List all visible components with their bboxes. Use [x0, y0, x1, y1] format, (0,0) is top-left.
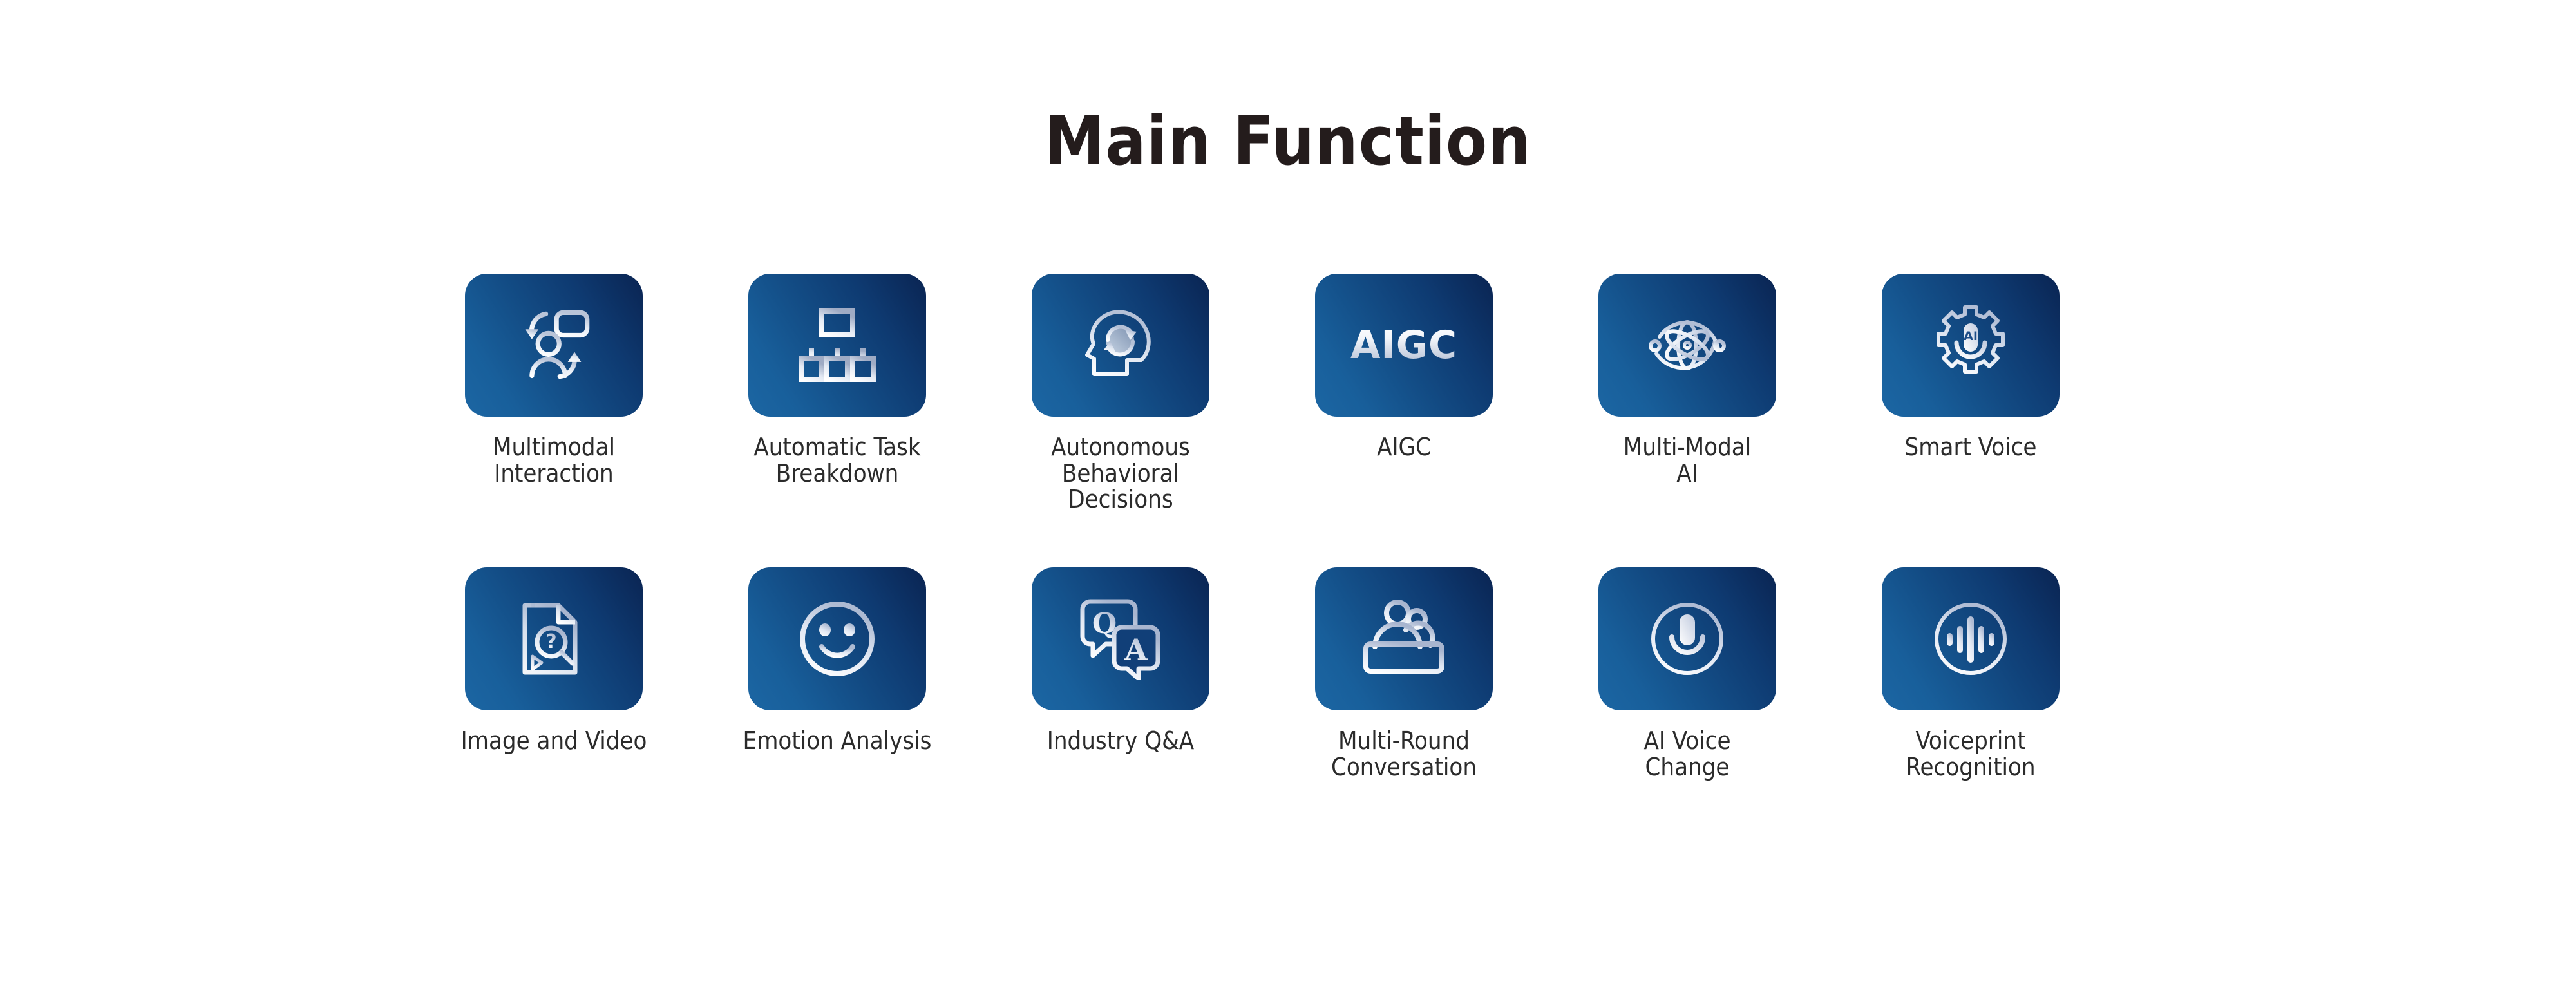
question-mark-glyph: ? [545, 631, 556, 653]
waveform-circle-icon [1929, 597, 2012, 681]
a-letter-glyph: A [1124, 632, 1148, 667]
feature-card-ai-voice-change[interactable]: AI Voice Change [1546, 567, 1829, 780]
smiley-face-icon [796, 598, 878, 680]
feature-label: Multi-Round Conversation [1331, 728, 1477, 780]
feature-card-image-and-video[interactable]: ? Image and Video [412, 567, 696, 754]
feature-label: AIGC [1377, 434, 1431, 460]
feature-label: AI Voice Change [1644, 728, 1731, 780]
feature-label: Multi-Modal AI [1624, 434, 1751, 486]
feature-card-voiceprint-recognition[interactable]: Voiceprint Recognition [1829, 567, 2112, 780]
feature-tile[interactable]: AIGC [1315, 274, 1493, 417]
feature-label: Multimodal Interaction [493, 434, 615, 486]
feature-card-industry-qa[interactable]: Q A Industry Q&A [979, 567, 1262, 754]
multimodal-interaction-icon [514, 305, 594, 385]
feature-tile[interactable] [1598, 274, 1776, 417]
feature-card-multimodal-interaction[interactable]: Multimodal Interaction [412, 274, 696, 486]
feature-label: Smart Voice [1905, 434, 2037, 460]
feature-tile[interactable] [1598, 567, 1776, 710]
feature-tile[interactable] [1315, 567, 1493, 710]
microphone-circle-icon [1645, 597, 1729, 681]
feature-label: Emotion Analysis [743, 728, 932, 754]
feature-tile[interactable] [1882, 567, 2060, 710]
feature-row-2: ? Image and Video [412, 567, 2164, 780]
feature-card-autonomous-behavioral-decisions[interactable]: Autonomous Behavioral Decisions [979, 274, 1262, 513]
task-breakdown-hierarchy-icon [799, 307, 876, 383]
feature-label: Image and Video [461, 728, 647, 754]
feature-tile[interactable]: Q A [1032, 567, 1209, 710]
feature-tile[interactable]: ? [465, 567, 643, 710]
feature-card-emotion-analysis[interactable]: Emotion Analysis [696, 567, 979, 754]
feature-label: Voiceprint Recognition [1906, 728, 2035, 780]
feature-tile[interactable]: AI [1882, 274, 2060, 417]
feature-tile[interactable] [465, 274, 643, 417]
atom-orbit-icon [1645, 303, 1729, 387]
feature-label: Autonomous Behavioral Decisions [1051, 434, 1190, 513]
feature-grid: Multimodal Interaction [412, 274, 2164, 780]
main-function-section: Main Function [0, 0, 2576, 1006]
feature-tile[interactable] [748, 274, 926, 417]
feature-card-aigc[interactable]: AIGC AIGC [1262, 274, 1546, 460]
head-refresh-brain-icon [1079, 303, 1162, 387]
document-search-play-icon: ? [516, 597, 592, 681]
feature-label: Industry Q&A [1047, 728, 1194, 754]
page-title: Main Function [0, 102, 2576, 180]
feature-label: Automatic Task Breakdown [753, 434, 920, 486]
qa-speech-bubbles-icon: Q A [1078, 598, 1163, 680]
feature-row-1: Multimodal Interaction [412, 274, 2164, 513]
feature-card-smart-voice[interactable]: AI Smart Voice [1829, 274, 2112, 460]
feature-card-multi-round-conversation[interactable]: Multi-Round Conversation [1262, 567, 1546, 780]
feature-tile[interactable] [1032, 274, 1209, 417]
feature-tile[interactable] [748, 567, 926, 710]
people-table-icon [1361, 599, 1447, 679]
gear-mic-ai-text: AI [1964, 329, 1978, 343]
gear-microphone-ai-icon: AI [1928, 303, 2013, 388]
aigc-text-icon: AIGC [1350, 323, 1457, 368]
feature-card-automatic-task-breakdown[interactable]: Automatic Task Breakdown [696, 274, 979, 486]
feature-card-multi-modal-ai[interactable]: Multi-Modal AI [1546, 274, 1829, 486]
